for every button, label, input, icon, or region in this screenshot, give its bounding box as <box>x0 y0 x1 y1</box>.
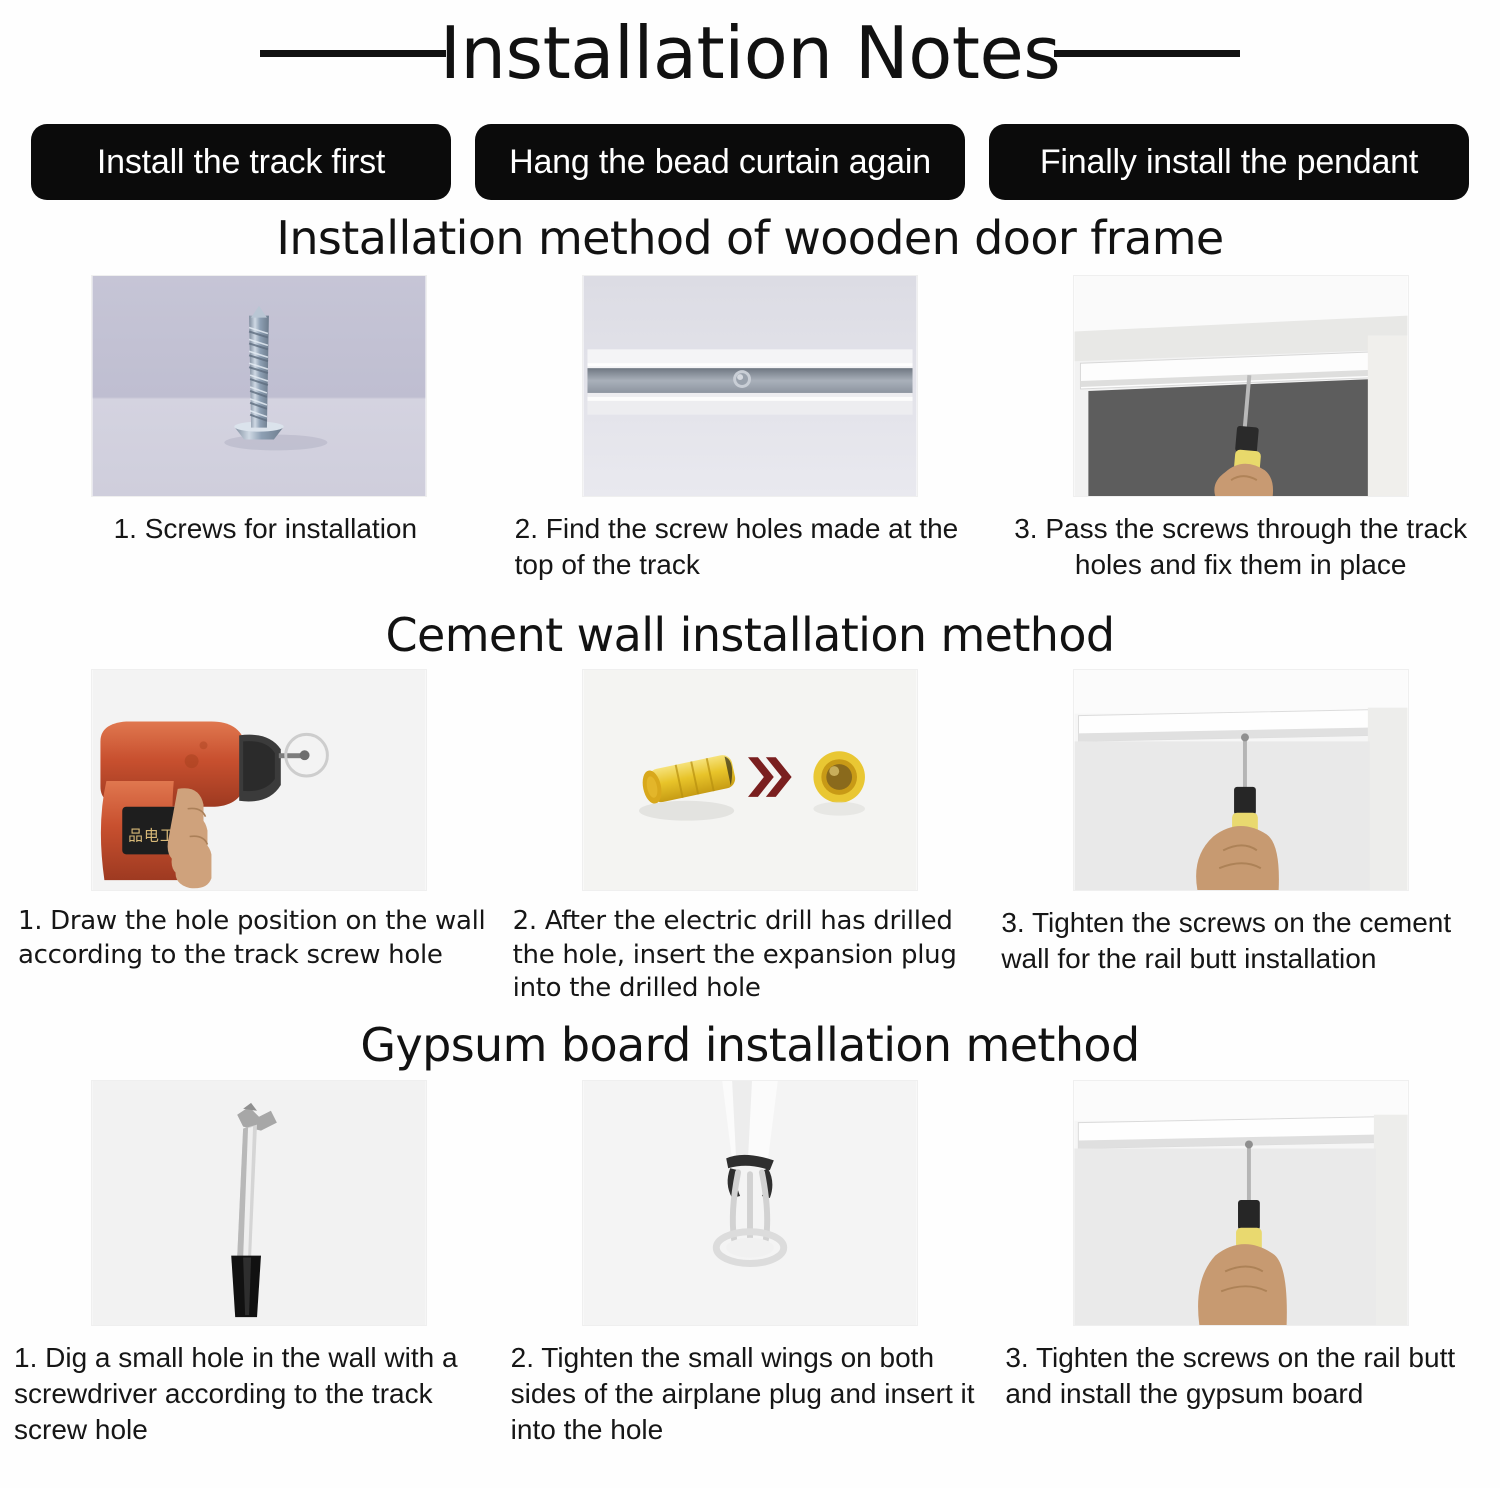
photo-yellow-expansion-plug <box>582 669 918 891</box>
step-cell: 品电工 1. Draw the hole position on the wal… <box>14 669 505 1005</box>
step-pill-install-track: Install the track first <box>31 124 451 200</box>
section-heading-gypsum-board: Gypsum board installation method <box>0 1019 1500 1072</box>
title-rule-left-icon <box>260 50 446 57</box>
step-cell: 2. Tighten the small wings on both sides… <box>505 1080 996 1447</box>
step-pill-hang-bead-curtain: Hang the bead curtain again <box>475 124 965 200</box>
section-3-photo-grid: 1. Dig a small hole in the wall with a s… <box>0 1080 1500 1447</box>
photo-track-screw-hole <box>582 275 918 497</box>
section-heading-wooden-door-frame: Installation method of wooden door frame <box>0 212 1500 265</box>
section-1-photo-grid: 1. Screws for installation <box>0 275 1500 583</box>
section-heading-cement-wall: Cement wall installation method <box>0 609 1500 662</box>
step-caption: 3. Tighten the screws on the cement wall… <box>995 905 1486 977</box>
photo-screwdriver-tightening-rail <box>1073 669 1409 891</box>
step-cell: 3. Tighten the screws on the rail butt a… <box>995 1080 1486 1447</box>
step-cell: 1. Dig a small hole in the wall with a s… <box>14 1080 505 1447</box>
step-cell: 1. Screws for installation <box>14 275 505 583</box>
svg-text:品: 品 <box>129 827 144 845</box>
page-title-row: Installation Notes <box>0 0 1500 102</box>
photo-screwdriver-tightening-gypsum-rail <box>1073 1080 1409 1326</box>
step-caption: 2. After the electric drill has drilled … <box>505 905 996 1005</box>
step-caption: 1. Draw the hole position on the wall ac… <box>14 905 505 972</box>
step-pill-row: Install the track first Hang the bead cu… <box>0 124 1500 200</box>
step-caption: 2. Find the screw holes made at the top … <box>505 511 996 583</box>
photo-screwdriver-on-door-frame-track <box>1073 275 1409 497</box>
section-2-photo-grid: 品电工 1. Draw the hole position on the wal… <box>0 669 1500 1005</box>
step-caption: 1. Dig a small hole in the wall with a s… <box>14 1340 505 1447</box>
step-pill-label: Install the track first <box>97 143 385 182</box>
photo-airplane-plug-in-wall <box>582 1080 918 1326</box>
step-pill-label: Finally install the pendant <box>1040 143 1418 182</box>
step-cell: 3. Tighten the screws on the cement wall… <box>995 669 1486 1005</box>
title-rule-right-icon <box>1054 50 1240 57</box>
svg-text:电: 电 <box>144 827 159 845</box>
step-pill-label: Hang the bead curtain again <box>509 143 931 182</box>
step-caption: 2. Tighten the small wings on both sides… <box>505 1340 996 1447</box>
photo-screwdriver-digging-hole <box>91 1080 427 1326</box>
step-caption: 3. Pass the screws through the track hol… <box>995 511 1486 583</box>
step-caption: 3. Tighten the screws on the rail butt a… <box>995 1340 1486 1412</box>
step-cell: 3. Pass the screws through the track hol… <box>995 275 1486 583</box>
photo-screw-closeup <box>91 275 427 497</box>
photo-electric-drill-on-wall: 品电工 <box>91 669 427 891</box>
page-title: Installation Notes <box>440 17 1061 89</box>
step-pill-install-pendant: Finally install the pendant <box>989 124 1469 200</box>
step-cell: 2. Find the screw holes made at the top … <box>505 275 996 583</box>
installation-notes-page: Installation Notes Install the track fir… <box>0 0 1500 1488</box>
step-cell: 2. After the electric drill has drilled … <box>505 669 996 1005</box>
step-caption: 1. Screws for installation <box>14 511 505 547</box>
